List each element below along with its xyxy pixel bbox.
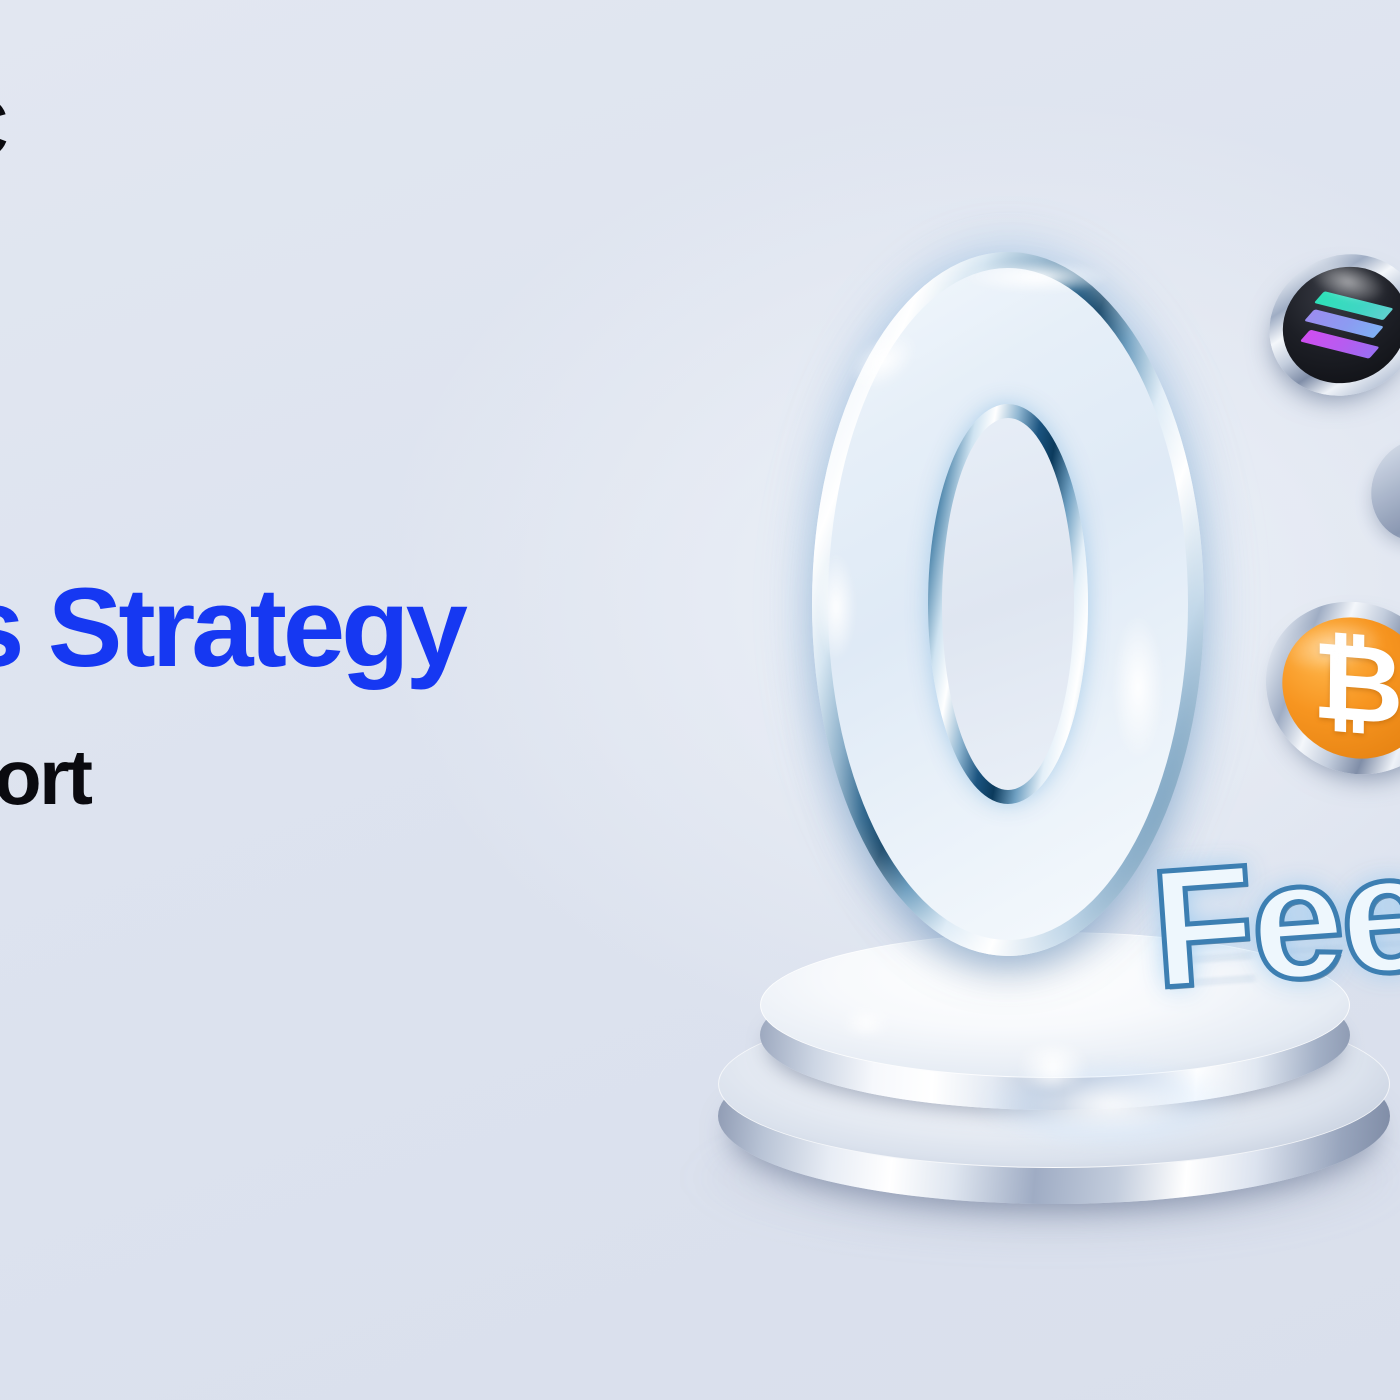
- page-subtitle: eport: [0, 738, 91, 816]
- hero-banner: C ₿: [0, 0, 1400, 1400]
- brand-logo[interactable]: C: [0, 86, 7, 170]
- glass-fee-word: Fee: [1146, 827, 1400, 1014]
- glass-highlight: [816, 552, 856, 662]
- page-title: es Strategy: [0, 572, 464, 684]
- glass-zero-counter: [942, 418, 1074, 790]
- page-title-line1: es Strategy: [0, 565, 464, 690]
- coin-solana: [1246, 235, 1400, 414]
- podium-spark: [1008, 1046, 1098, 1088]
- glass-zero-numeral: [812, 252, 1204, 956]
- glass-highlight: [1112, 612, 1164, 762]
- coin-edge-partial: [1354, 422, 1400, 558]
- podium-spark: [836, 1012, 896, 1034]
- coin-bitcoin: ₿: [1245, 587, 1400, 790]
- glass-highlight: [962, 260, 1112, 294]
